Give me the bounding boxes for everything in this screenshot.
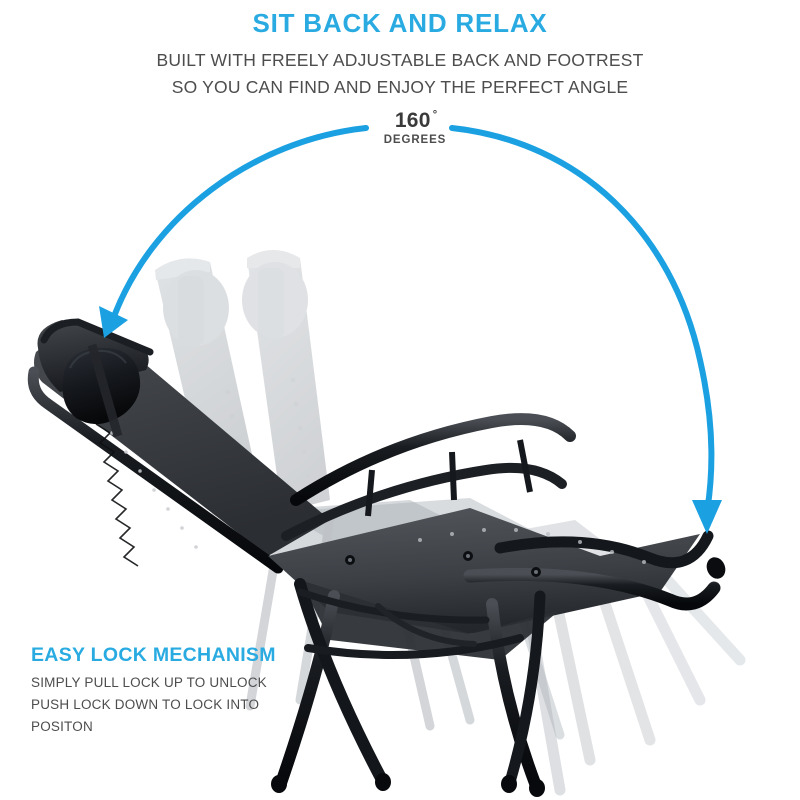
feature-title: EASY LOCK MECHANISM	[31, 645, 331, 666]
infographic-canvas: SIT BACK AND RELAX BUILT WITH FREELY ADJ…	[0, 0, 800, 800]
angle-label: 160° DEGREES	[355, 110, 475, 146]
header-text-block: SIT BACK AND RELAX BUILT WITH FREELY ADJ…	[0, 0, 800, 101]
degree-symbol-icon: °	[433, 109, 437, 121]
feature-line: POSITON	[31, 716, 331, 738]
subtitle-line-1: BUILT WITH FREELY ADJUSTABLE BACK AND FO…	[0, 38, 800, 74]
feature-description-list: SIMPLY PULL LOCK UP TO UNLOCK PUSH LOCK …	[31, 672, 331, 738]
angle-value: 160	[395, 109, 431, 132]
page-title: SIT BACK AND RELAX	[0, 0, 800, 38]
feature-callout: EASY LOCK MECHANISM SIMPLY PULL LOCK UP …	[31, 645, 331, 738]
angle-value-row: 160°	[355, 110, 475, 131]
feature-line: PUSH LOCK DOWN TO LOCK INTO	[31, 694, 331, 716]
subtitle-line-2: SO YOU CAN FIND AND ENJOY THE PERFECT AN…	[0, 74, 800, 101]
feature-line: SIMPLY PULL LOCK UP TO UNLOCK	[31, 672, 331, 694]
angle-unit-label: DEGREES	[355, 134, 475, 146]
